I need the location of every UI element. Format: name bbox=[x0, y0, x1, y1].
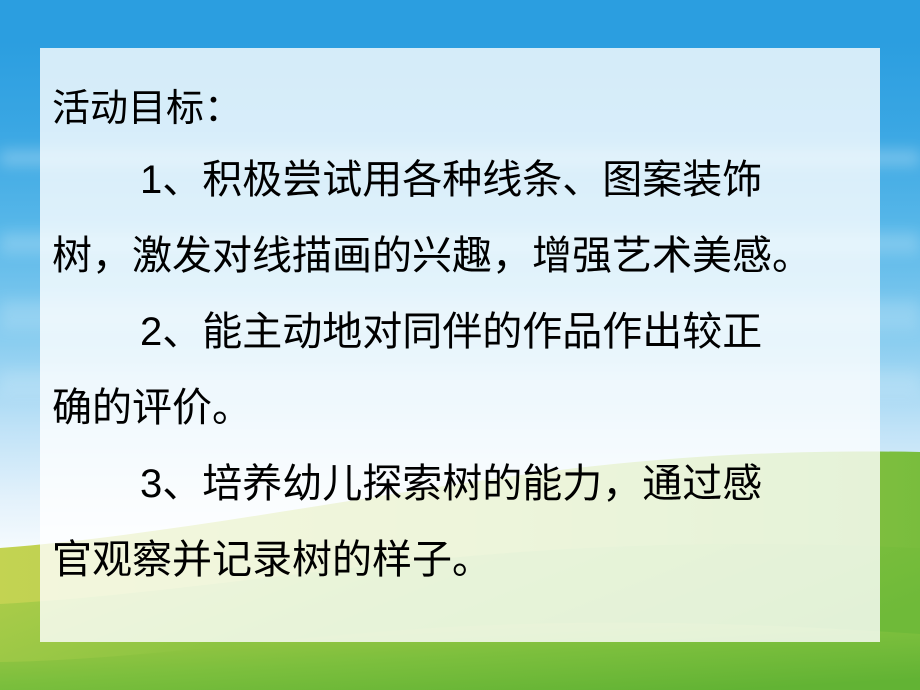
heading-activity-goals: 活动目标： bbox=[52, 76, 872, 142]
goal-line-3-cont: 官观察并记录树的样子。 bbox=[52, 522, 872, 598]
goal-line-2-cont: 确的评价。 bbox=[52, 370, 872, 446]
presentation-slide: 活动目标： 1、积极尝试用各种线条、图案装饰 树，激发对线描画的兴趣，增强艺术美… bbox=[0, 0, 920, 690]
goal-line-1-cont: 树，激发对线描画的兴趣，增强艺术美感。 bbox=[52, 218, 872, 294]
goal-line-1: 1、积极尝试用各种线条、图案装饰 bbox=[52, 142, 872, 218]
content-panel-body: 活动目标： 1、积极尝试用各种线条、图案装饰 树，激发对线描画的兴趣，增强艺术美… bbox=[40, 48, 880, 642]
goal-line-3: 3、培养幼儿探索树的能力，通过感 bbox=[52, 446, 872, 522]
content-panel: 活动目标： 1、积极尝试用各种线条、图案装饰 树，激发对线描画的兴趣，增强艺术美… bbox=[40, 48, 880, 642]
goal-line-2: 2、能主动地对同伴的作品作出较正 bbox=[52, 294, 872, 370]
